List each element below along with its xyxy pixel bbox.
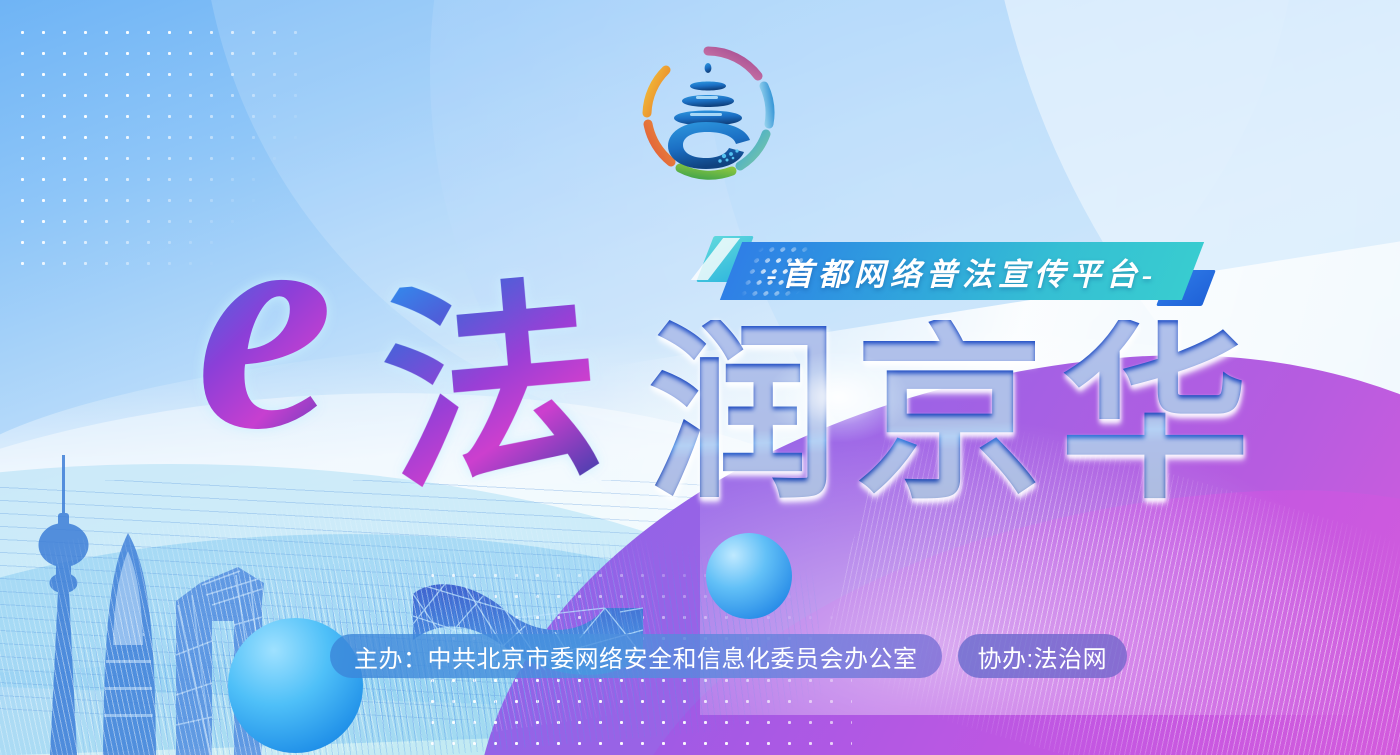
title-letter-e: e	[196, 168, 334, 478]
credits-row: 主办：中共北京市委网络安全和信息化委员会办公室 协办:法治网	[330, 634, 1127, 678]
title-light-glint	[768, 352, 908, 442]
title-chars-runjinghua: 润京华	[648, 320, 1266, 510]
co-organizer-pill: 协办:法治网	[958, 634, 1128, 678]
promo-banner: BEIJING	[0, 0, 1400, 755]
title-char-fa: 法	[374, 271, 610, 507]
organizer-pill: 主办：中共北京市委网络安全和信息化委员会办公室	[330, 634, 942, 678]
